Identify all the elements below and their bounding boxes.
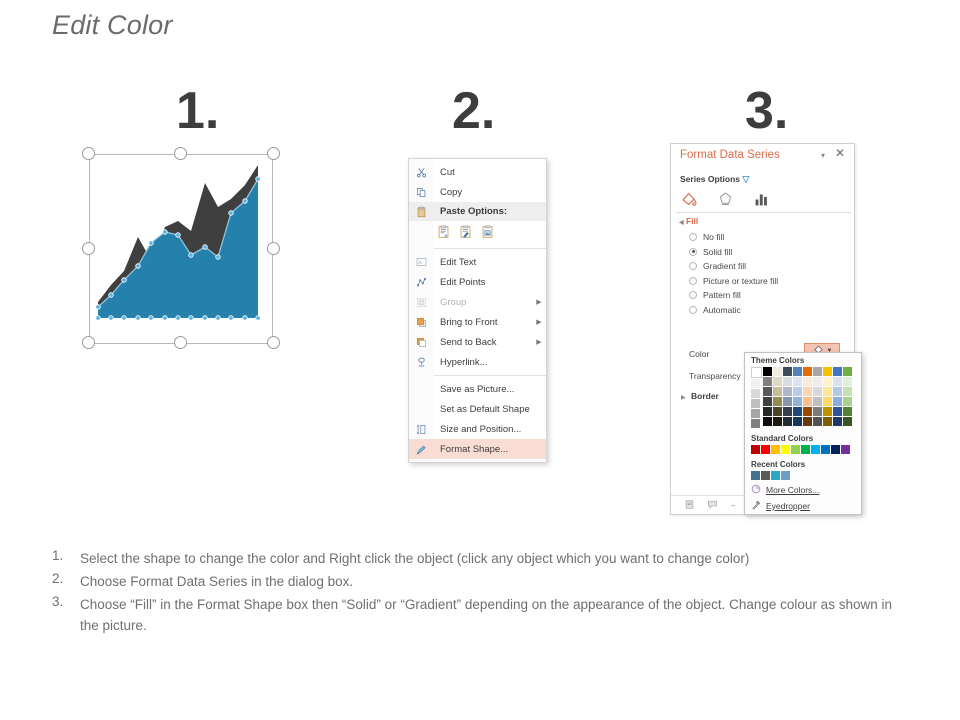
- copy-icon: [409, 187, 434, 198]
- menu-item-cut[interactable]: Cut: [409, 162, 546, 182]
- menu-item-bring-to-front[interactable]: Bring to Front ▶: [409, 312, 546, 332]
- instruction-number: 1.: [52, 548, 80, 569]
- menu-item-label: Format Shape...: [434, 444, 546, 455]
- instruction-text: Choose Format Data Series in the dialog …: [80, 571, 353, 592]
- color-swatch[interactable]: [843, 367, 852, 376]
- hyperlink-icon: [409, 357, 434, 368]
- instruction-text: Select the shape to change the color and…: [80, 548, 749, 569]
- color-swatch[interactable]: [803, 367, 812, 376]
- menu-separator: [434, 375, 546, 376]
- collapse-triangle-icon: ▶: [681, 395, 686, 401]
- fill-section-header[interactable]: ◀ Fill: [679, 216, 698, 226]
- color-swatch[interactable]: [763, 367, 772, 376]
- color-swatch[interactable]: [803, 407, 812, 416]
- theme-color-column[interactable]: [793, 367, 802, 428]
- slide-root: Edit Color 1. 2. 3.: [0, 0, 960, 720]
- standard-color-swatch[interactable]: [751, 445, 760, 454]
- format-shape-icon: [409, 444, 434, 455]
- radio-label: Pattern fill: [703, 290, 741, 300]
- context-menu[interactable]: Cut Copy Paste Options: a: [408, 158, 547, 463]
- standard-color-swatch[interactable]: [841, 445, 850, 454]
- send-back-icon: [409, 337, 434, 348]
- paste-keep-text-icon[interactable]: a: [437, 225, 450, 242]
- standard-color-swatch[interactable]: [791, 445, 800, 454]
- theme-color-column[interactable]: [783, 367, 792, 428]
- menu-item-edit-points[interactable]: Edit Points: [409, 272, 546, 292]
- minimize-icon[interactable]: –: [731, 501, 735, 510]
- color-swatch[interactable]: [793, 377, 802, 386]
- menu-item-paste-options: Paste Options:: [409, 202, 546, 221]
- color-swatch[interactable]: [763, 417, 772, 426]
- radio-picture-or-texture-fill[interactable]: Picture or texture fill: [689, 274, 778, 289]
- edit-text-icon: A: [409, 257, 434, 267]
- color-swatch[interactable]: [823, 377, 832, 386]
- menu-item-send-to-back[interactable]: Send to Back ▶: [409, 332, 546, 352]
- series-options-label: Series Options: [680, 174, 740, 184]
- color-swatch[interactable]: [843, 377, 852, 386]
- menu-item-size-and-position[interactable]: Size and Position...: [409, 419, 546, 439]
- series-options-tab[interactable]: [748, 188, 774, 210]
- menu-item-label: Set as Default Shape: [434, 404, 546, 415]
- color-swatch[interactable]: [773, 397, 782, 406]
- resize-handle-ne[interactable]: [267, 147, 280, 160]
- step-number-1: 1.: [176, 85, 219, 137]
- expand-triangle-icon: ◀: [679, 220, 684, 226]
- color-swatch[interactable]: [823, 397, 832, 406]
- color-swatch[interactable]: [833, 407, 842, 416]
- radio-label: Gradient fill: [703, 261, 746, 271]
- color-swatch[interactable]: [813, 417, 822, 426]
- menu-item-label: Group: [434, 297, 532, 308]
- theme-color-column[interactable]: [823, 367, 832, 428]
- submenu-arrow-icon: ▶: [532, 318, 546, 326]
- radio-dot-selected: [689, 248, 697, 256]
- pane-title: Format Data Series: [680, 149, 780, 161]
- color-swatch[interactable]: [763, 397, 772, 406]
- more-colors-label: More Colors...: [766, 485, 819, 495]
- area-chart[interactable]: [90, 155, 274, 345]
- color-swatch[interactable]: [823, 407, 832, 416]
- color-swatch[interactable]: [843, 387, 852, 396]
- menu-separator: [434, 248, 546, 249]
- border-section-label: Border: [691, 391, 719, 401]
- resize-handle-s[interactable]: [174, 336, 187, 349]
- recent-colors-label: Recent Colors: [745, 454, 861, 471]
- color-swatch[interactable]: [793, 367, 802, 376]
- instruction-number: 3.: [52, 594, 80, 636]
- color-swatch[interactable]: [783, 407, 792, 416]
- eyedropper-item[interactable]: Eyedropper: [745, 498, 861, 514]
- radio-dot: [689, 291, 697, 299]
- color-swatch[interactable]: [773, 407, 782, 416]
- color-swatch[interactable]: [803, 397, 812, 406]
- page-title: Edit Color: [52, 10, 173, 41]
- standard-color-swatch[interactable]: [761, 445, 770, 454]
- color-picker-dropdown[interactable]: Theme Colors Standard Colors Recent Colo…: [744, 352, 862, 515]
- color-swatch[interactable]: [783, 387, 792, 396]
- pane-tab-strip[interactable]: [676, 188, 774, 210]
- effects-tab[interactable]: [712, 188, 738, 210]
- menu-item-label: Save as Picture...: [434, 384, 546, 395]
- color-swatch[interactable]: [823, 387, 832, 396]
- step-number-2: 2.: [452, 85, 495, 137]
- instruction-item: 1. Select the shape to change the color …: [52, 548, 892, 569]
- radio-automatic[interactable]: Automatic: [689, 303, 778, 318]
- menu-item-edit-text[interactable]: A Edit Text: [409, 252, 546, 272]
- fill-line-tab[interactable]: [676, 188, 702, 210]
- menu-item-label: Copy: [434, 187, 546, 198]
- menu-item-label: Bring to Front: [434, 317, 532, 328]
- color-swatch[interactable]: [773, 417, 782, 426]
- color-swatch[interactable]: [763, 387, 772, 396]
- standard-color-swatch[interactable]: [801, 445, 810, 454]
- color-swatch[interactable]: [751, 399, 760, 408]
- theme-color-column[interactable]: [751, 367, 762, 428]
- color-swatch[interactable]: [843, 417, 852, 426]
- theme-color-column[interactable]: [773, 367, 782, 428]
- recent-color-swatch[interactable]: [751, 471, 760, 480]
- color-swatch[interactable]: [773, 367, 782, 376]
- menu-item-label: Size and Position...: [434, 424, 546, 435]
- color-swatch[interactable]: [823, 417, 832, 426]
- menu-item-label: Edit Points: [434, 277, 546, 288]
- menu-item-save-as-picture[interactable]: Save as Picture...: [409, 379, 546, 399]
- theme-colors-label: Theme Colors: [745, 353, 861, 367]
- theme-colors-grid[interactable]: [745, 367, 861, 428]
- color-swatch[interactable]: [803, 377, 812, 386]
- color-swatch[interactable]: [813, 397, 822, 406]
- color-label: Color: [689, 349, 709, 359]
- color-swatch[interactable]: [751, 409, 760, 418]
- color-swatch[interactable]: [793, 387, 802, 396]
- menu-item-label: Cut: [434, 167, 546, 178]
- instruction-number: 2.: [52, 571, 80, 592]
- group-icon: [409, 297, 434, 308]
- menu-item-label: Paste Options:: [434, 206, 546, 217]
- color-swatch[interactable]: [813, 377, 822, 386]
- radio-dot: [689, 233, 697, 241]
- radio-label: No fill: [703, 232, 724, 242]
- radio-dot: [689, 306, 697, 314]
- more-colors-icon: [751, 484, 761, 496]
- standard-color-swatch[interactable]: [771, 445, 780, 454]
- color-swatch[interactable]: [783, 417, 792, 426]
- menu-item-set-as-default-shape[interactable]: Set as Default Shape: [409, 399, 546, 419]
- color-swatch[interactable]: [833, 417, 842, 426]
- chevron-down-icon: ▽: [742, 174, 749, 184]
- transparency-label: Transparency: [689, 371, 741, 381]
- resize-handle-n[interactable]: [174, 147, 187, 160]
- color-swatch[interactable]: [793, 407, 802, 416]
- radio-label: Automatic: [703, 305, 741, 315]
- pane-header: Format Data Series ▾ ✕: [671, 144, 854, 170]
- notes-icon[interactable]: [685, 496, 694, 514]
- fill-options-group[interactable]: No fill Solid fill Gradient fill Picture…: [689, 230, 778, 317]
- menu-item-label: Edit Text: [434, 257, 546, 268]
- standard-colors-label: Standard Colors: [745, 428, 861, 445]
- color-swatch[interactable]: [763, 407, 772, 416]
- edit-points-icon: [409, 277, 434, 288]
- theme-color-column[interactable]: [803, 367, 812, 428]
- theme-color-column[interactable]: [843, 367, 852, 428]
- fill-section-label: Fill: [686, 216, 698, 226]
- radio-solid-fill[interactable]: Solid fill: [689, 245, 778, 260]
- recent-color-swatch[interactable]: [771, 471, 780, 480]
- standard-colors-row[interactable]: [745, 445, 861, 454]
- standard-color-swatch[interactable]: [811, 445, 820, 454]
- color-swatch[interactable]: [751, 379, 760, 388]
- resize-handle-nw[interactable]: [82, 147, 95, 160]
- color-swatch[interactable]: [763, 377, 772, 386]
- radio-pattern-fill[interactable]: Pattern fill: [689, 288, 778, 303]
- color-swatch[interactable]: [793, 417, 802, 426]
- menu-item-label: Hyperlink...: [434, 357, 546, 368]
- instruction-item: 3. Choose “Fill” in the Format Shape box…: [52, 594, 892, 636]
- tab-underline: [676, 212, 851, 213]
- resize-handle-w[interactable]: [82, 242, 95, 255]
- recent-color-swatch[interactable]: [781, 471, 790, 480]
- series-options-header[interactable]: Series Options ▽: [680, 174, 749, 185]
- submenu-arrow-icon: ▶: [532, 338, 546, 346]
- color-swatch[interactable]: [803, 387, 812, 396]
- border-section-header[interactable]: ▶ Border: [681, 391, 719, 401]
- color-swatch[interactable]: [833, 397, 842, 406]
- step-number-3: 3.: [745, 85, 788, 137]
- paste-keep-formatting-icon[interactable]: [459, 225, 472, 242]
- standard-color-swatch[interactable]: [821, 445, 830, 454]
- color-swatch[interactable]: [773, 377, 782, 386]
- standard-color-swatch[interactable]: [831, 445, 840, 454]
- resize-handle-sw[interactable]: [82, 336, 95, 349]
- menu-item-group: Group ▶: [409, 292, 546, 312]
- color-swatch[interactable]: [773, 387, 782, 396]
- menu-item-copy[interactable]: Copy: [409, 182, 546, 202]
- radio-dot: [689, 277, 697, 285]
- comments-icon[interactable]: [707, 496, 718, 514]
- color-swatch[interactable]: [783, 367, 792, 376]
- color-swatch[interactable]: [833, 387, 842, 396]
- resize-handle-se[interactable]: [267, 336, 280, 349]
- color-swatch[interactable]: [751, 367, 762, 378]
- color-swatch[interactable]: [833, 377, 842, 386]
- scissors-icon: [409, 167, 434, 178]
- color-swatch[interactable]: [783, 377, 792, 386]
- color-swatch[interactable]: [803, 417, 812, 426]
- submenu-arrow-icon: ▶: [532, 298, 546, 306]
- size-position-icon: [409, 424, 434, 435]
- color-swatch[interactable]: [813, 387, 822, 396]
- standard-color-swatch[interactable]: [781, 445, 790, 454]
- bring-front-icon: [409, 317, 434, 328]
- color-swatch[interactable]: [751, 389, 760, 398]
- instruction-text: Choose “Fill” in the Format Shape box th…: [80, 594, 892, 636]
- radio-label: Solid fill: [703, 247, 732, 257]
- eyedropper-label: Eyedropper: [766, 501, 810, 511]
- radio-no-fill[interactable]: No fill: [689, 230, 778, 245]
- radio-dot: [689, 262, 697, 270]
- recent-color-swatch[interactable]: [761, 471, 770, 480]
- radio-label: Picture or texture fill: [703, 276, 778, 286]
- menu-item-hyperlink[interactable]: Hyperlink...: [409, 352, 546, 372]
- theme-color-column[interactable]: [833, 367, 842, 428]
- svg-text:a: a: [444, 233, 447, 238]
- paste-icon: [409, 206, 434, 218]
- color-swatch[interactable]: [793, 397, 802, 406]
- selected-chart-object[interactable]: [80, 145, 282, 353]
- color-swatch[interactable]: [833, 367, 842, 376]
- color-swatch[interactable]: [843, 397, 852, 406]
- menu-item-format-shape[interactable]: Format Shape...: [409, 439, 546, 459]
- color-swatch[interactable]: [813, 407, 822, 416]
- instruction-item: 2. Choose Format Data Series in the dial…: [52, 571, 892, 592]
- paste-picture-icon[interactable]: [481, 225, 494, 242]
- radio-gradient-fill[interactable]: Gradient fill: [689, 259, 778, 274]
- more-colors-item[interactable]: More Colors...: [745, 482, 861, 498]
- theme-color-column[interactable]: [813, 367, 822, 428]
- chevron-down-icon[interactable]: ▾: [821, 151, 825, 160]
- color-swatch[interactable]: [843, 407, 852, 416]
- menu-item-label: Send to Back: [434, 337, 532, 348]
- color-swatch[interactable]: [813, 367, 822, 376]
- eyedropper-icon: [751, 500, 761, 512]
- recent-colors-row[interactable]: [745, 471, 861, 482]
- resize-handle-e[interactable]: [267, 242, 280, 255]
- color-swatch[interactable]: [751, 419, 760, 428]
- color-swatch[interactable]: [823, 367, 832, 376]
- close-icon[interactable]: ✕: [835, 147, 845, 159]
- instructions-list: 1. Select the shape to change the color …: [52, 548, 892, 638]
- theme-color-column[interactable]: [763, 367, 772, 428]
- color-swatch[interactable]: [783, 397, 792, 406]
